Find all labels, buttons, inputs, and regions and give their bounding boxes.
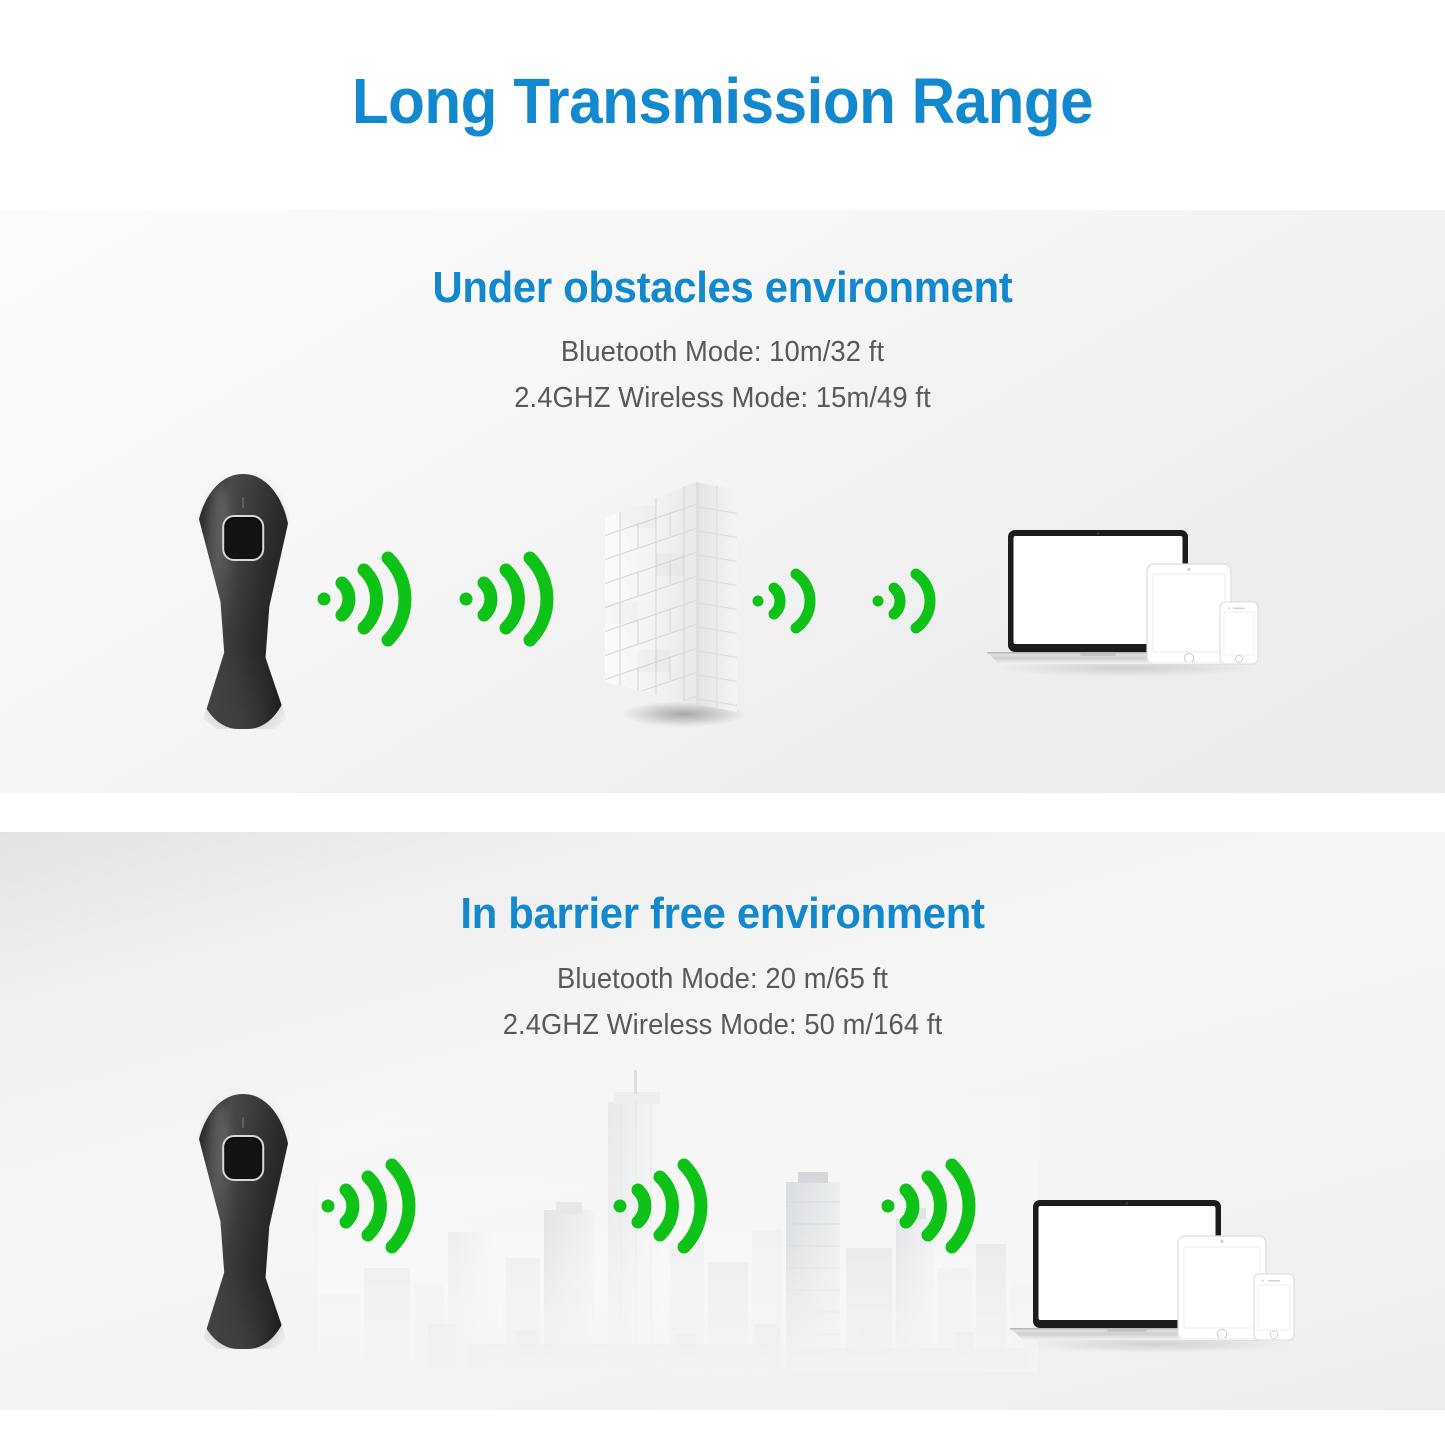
scanner-scan-button: [222, 1135, 264, 1181]
tablet: [1147, 564, 1231, 664]
signal-waves-2: [458, 553, 558, 645]
section-1-line-1: Bluetooth Mode: 10m/32 ft: [29, 336, 1416, 369]
signal-waves-3-attenuated: [752, 568, 824, 634]
scanner-scan-button: [222, 515, 264, 561]
scanner-led-indicator: [242, 1117, 244, 1128]
brick-wall-obstacle: [598, 476, 778, 731]
page-title: Long Transmission Range: [43, 66, 1401, 136]
signal-waves-7: [880, 1160, 980, 1252]
section-barrier-free: In barrier free environment Bluetooth Mo…: [0, 832, 1445, 1410]
receiver-devices-group-1: [975, 512, 1265, 682]
tablet: [1178, 1236, 1266, 1340]
scanner-body: [196, 1094, 290, 1349]
section-2-line-1: Bluetooth Mode: 20 m/65 ft: [29, 963, 1416, 996]
section-2-line-2: 2.4GHZ Wireless Mode: 50 m/164 ft: [29, 1009, 1416, 1042]
section-under-obstacles: Under obstacles environment Bluetooth Mo…: [0, 210, 1445, 793]
signal-waves-6: [612, 1160, 712, 1252]
section-1-heading: Under obstacles environment: [36, 263, 1409, 313]
receiver-devices-group-2: [1000, 1180, 1300, 1358]
section-1-line-2: 2.4GHZ Wireless Mode: 15m/49 ft: [29, 382, 1416, 415]
scanner-led-indicator: [242, 497, 244, 508]
barcode-scanner: [196, 474, 290, 729]
signal-waves-5: [320, 1160, 420, 1252]
signal-waves-4-attenuated: [872, 568, 944, 634]
section-2-heading: In barrier free environment: [36, 889, 1409, 939]
smartphone: [1220, 602, 1258, 664]
barcode-scanner: [196, 1094, 290, 1349]
scanner-body: [196, 474, 290, 729]
signal-waves-1: [316, 553, 416, 645]
infographic-page: Long Transmission Range Under obstacles …: [0, 0, 1445, 1445]
smartphone: [1254, 1274, 1294, 1340]
